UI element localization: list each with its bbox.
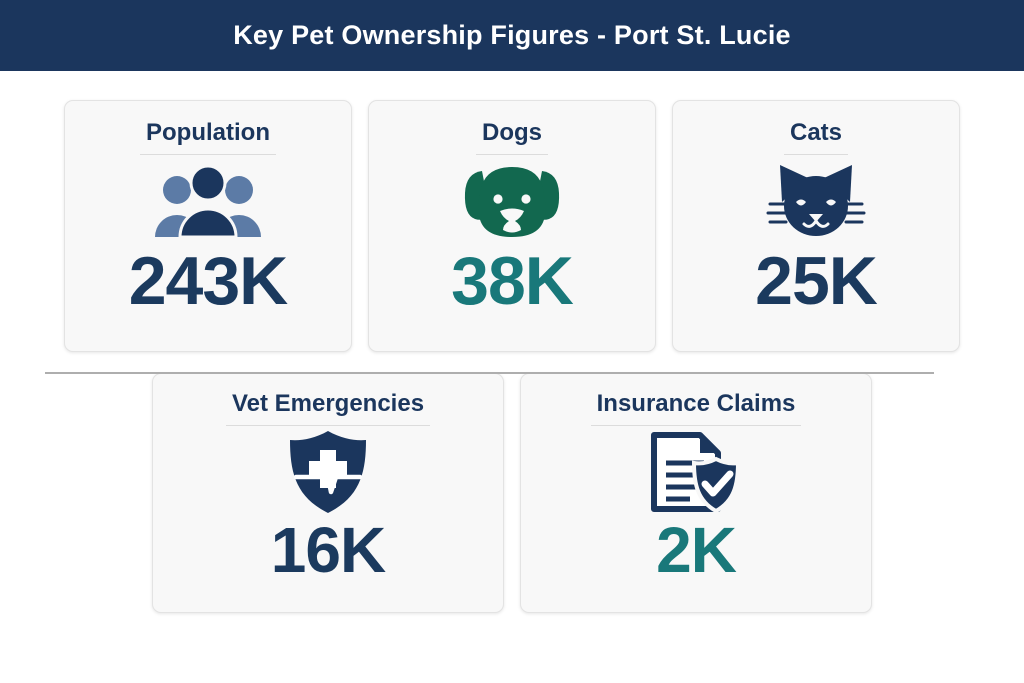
stat-card-value: 38K — [451, 247, 573, 315]
top-row: Population 243K Dog — [0, 71, 1024, 352]
stat-card-insurance-claims[interactable]: Insurance Claims 2K — [520, 373, 872, 613]
bottom-row: Vet Emergencies 16K Insurance Claims — [0, 352, 1024, 613]
stat-card-title: Vet Emergencies — [226, 392, 430, 426]
stat-card-dogs[interactable]: Dogs 38K — [368, 100, 656, 352]
stat-card-value: 2K — [656, 518, 736, 582]
stat-card-title: Population — [140, 121, 276, 155]
stat-card-value: 25K — [755, 247, 877, 315]
medical-shield-heartbeat-icon — [286, 426, 370, 518]
cat-face-icon — [764, 155, 868, 247]
stat-card-title: Dogs — [476, 121, 548, 155]
people-group-icon — [152, 155, 264, 247]
stat-card-population[interactable]: Population 243K — [64, 100, 352, 352]
stats-board: Population 243K Dog — [0, 71, 1024, 683]
dog-face-icon — [460, 155, 564, 247]
stat-card-title: Insurance Claims — [591, 392, 802, 426]
stat-card-title: Cats — [784, 121, 848, 155]
stat-card-value: 243K — [129, 247, 288, 315]
document-shield-check-icon — [646, 426, 746, 518]
header-bar: Key Pet Ownership Figures - Port St. Luc… — [0, 0, 1024, 71]
row-divider — [45, 372, 934, 374]
page-title: Key Pet Ownership Figures - Port St. Luc… — [233, 22, 791, 49]
stat-card-value: 16K — [271, 518, 385, 582]
stat-card-cats[interactable]: Cats — [672, 100, 960, 352]
stat-card-vet-emergencies[interactable]: Vet Emergencies 16K — [152, 373, 504, 613]
